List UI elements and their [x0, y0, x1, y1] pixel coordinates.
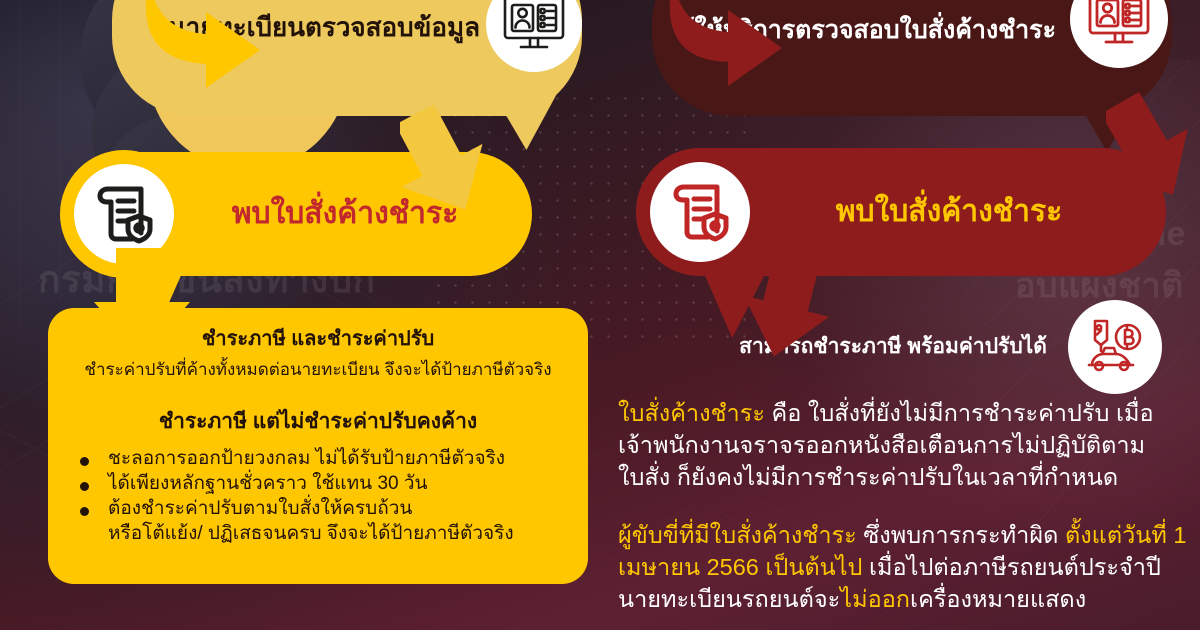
monitor-person-checklist-icon — [1070, 0, 1168, 68]
step-registrar-label: นายทะเบียนตรวจสอบข้อมูล — [168, 13, 480, 43]
list-item: ต้องชำระค่าปรับตามใบสั่งให้ครบถ้วน — [66, 496, 570, 521]
step-provider-label: ผู้ให้บริการตรวจสอบใบสั่งค้างชำระ — [680, 16, 1056, 45]
provider-bubble-tail — [1070, 88, 1144, 152]
document-shield-badge-icon — [74, 164, 174, 264]
step-registrar-bubble[interactable]: นายทะเบียนตรวจสอบข้อมูล — [112, 0, 582, 116]
body-paragraph-2: ผู้ขับขี่ที่มีใบสั่งค้างชำระ ซึ่งพบการกร… — [618, 520, 1188, 616]
list-item-continuation: หรือโต้แย้ง/ ปฏิเสธจนครบ จึงจะได้ป้ายภาษ… — [66, 521, 570, 546]
paragraph-2-segment-0: ผู้ขับขี่ที่มีใบสั่งค้างชำระ — [618, 522, 857, 548]
step-found-left-bubble[interactable]: พบใบสั่งค้างชำระ — [62, 152, 532, 276]
left-detail-panel: ชำระภาษี และชำระค่าปรับ ชำระค่าปรับที่ค้… — [48, 308, 588, 584]
step-found-right-bubble[interactable]: พบใบสั่งค้างชำระ — [636, 148, 1166, 276]
paragraph-1-segment-0: ใบสั่งค้างชำระ — [618, 400, 765, 426]
list-item: ได้เพียงหลักฐานชั่วคราว ใช้แทน 30 วัน — [66, 471, 570, 496]
panel-heading-1: ชำระภาษี และชำระค่าปรับ — [66, 322, 570, 354]
paragraph-2-segment-4: ไม่ออก — [840, 586, 910, 612]
step-pay-label: สามารถชำระภาษี พร้อมค่าปรับได้ — [728, 330, 1058, 363]
document-shield-badge-icon — [650, 162, 750, 262]
infographic-canvas: กรมการขนส่งทางบก anageme อบแผ่งชาติ นายท… — [0, 0, 1200, 630]
car-tax-baht-icon — [1068, 300, 1162, 394]
list-item: ชะลอการออกป้ายวงกลม ไม่ได้รับป้ายภาษีตัว… — [66, 446, 570, 471]
step-found-right-label: พบใบสั่งค้างชำระ — [836, 195, 1062, 230]
step-provider-bubble[interactable]: ผู้ให้บริการตรวจสอบใบสั่งค้างชำระ — [652, 0, 1172, 116]
right-body-text: ใบสั่งค้างชำระ คือ ใบสั่งที่ยังไม่มีการช… — [618, 398, 1188, 616]
paragraph-2-segment-1: ซึ่งพบการกระทำผิด — [857, 522, 1065, 548]
step-found-left-label: พบใบสั่งค้างชำระ — [232, 197, 458, 232]
step-pay-row: สามารถชำระภาษี พร้อมค่าปรับได้ — [700, 300, 1170, 400]
panel-subtext-1: ชำระค่าปรับที่ค้างทั้งหมดต่อนายทะเบียน จ… — [66, 356, 570, 383]
body-paragraph-1: ใบสั่งค้างชำระ คือ ใบสั่งที่ยังไม่มีการช… — [618, 398, 1188, 494]
monitor-person-checklist-icon — [486, 0, 582, 72]
panel-bullet-list: ชะลอการออกป้ายวงกลม ไม่ได้รับป้ายภาษีตัว… — [66, 446, 570, 546]
registrar-bubble-tail — [490, 88, 560, 150]
paragraph-2-segment-5: เครื่องหมายแสดง — [910, 586, 1086, 612]
panel-heading-2: ชำระภาษี แต่ไม่ชำระค่าปรับคงค้าง — [66, 405, 570, 438]
